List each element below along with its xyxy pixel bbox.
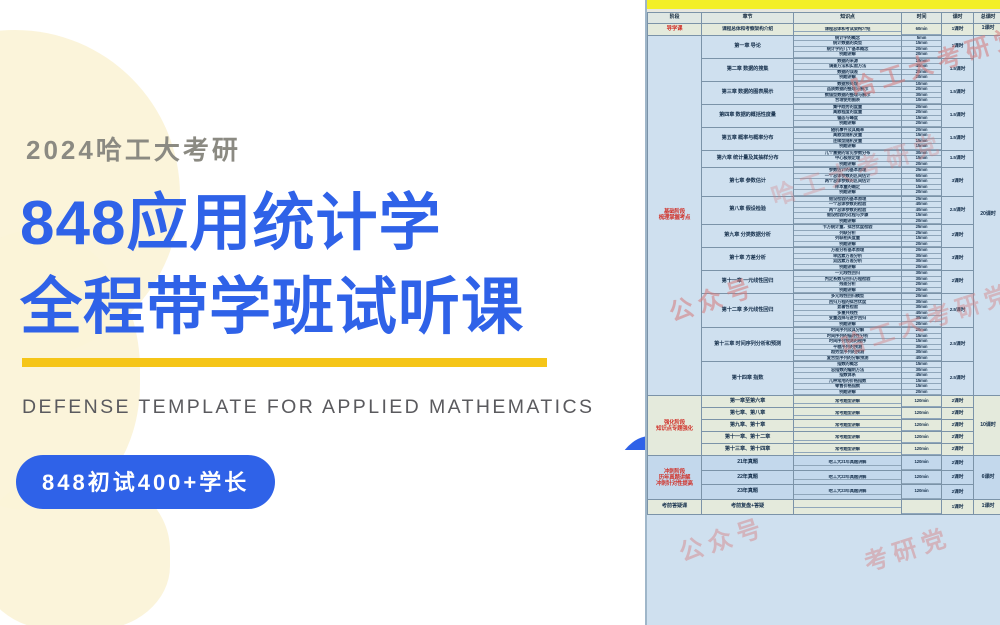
cell-hours: 2课时 bbox=[942, 470, 974, 485]
cell-hours: 2课时 bbox=[942, 485, 974, 500]
table-row: 冲刺阶段历年真题讲解冲刺针对性提高21年真题哈工大21年真题讲解120min2课… bbox=[648, 456, 1000, 471]
cell-hours: 2课时 bbox=[942, 420, 974, 432]
cell-knowledge-points: 指数的概念总指数的编制方法指数体系几种常用的价格指数零售价格指数例题讲解 bbox=[794, 362, 902, 396]
cell-hours: 2.5课时 bbox=[942, 294, 974, 328]
cell-hours: 1.5课时 bbox=[942, 104, 974, 127]
cell-stage: 强化阶段知识点专题强化 bbox=[648, 396, 702, 456]
cell-times: 120min bbox=[902, 456, 942, 471]
table-header-row: 阶段 章节 知识点 时间 课时 总课时 bbox=[648, 13, 1000, 24]
knowledge-point-item: 例题讲解 bbox=[794, 75, 901, 81]
cell-total-hours: 10课时 bbox=[974, 396, 1000, 456]
promo-eyebrow: 2024哈工大考研 bbox=[26, 130, 241, 167]
cell-knowledge-points: 常考题型讲解 bbox=[794, 396, 902, 408]
knowledge-point-item: 例题讲解 bbox=[794, 121, 901, 127]
cell-knowledge-points: 课程总体和考试架构介绍 bbox=[794, 24, 902, 36]
cell-chapter: 第十三章、第十四章 bbox=[702, 444, 794, 456]
time-item: 120min bbox=[902, 396, 941, 407]
time-item: 120min bbox=[902, 432, 941, 443]
time-item: 10min bbox=[902, 98, 941, 104]
cell-knowledge-points: 数据预处理品质数据的整理与展示数值型数据的整理与展示合理使用图表 bbox=[794, 81, 902, 104]
cell-times: 20min15min15min30min30min40min bbox=[902, 328, 942, 362]
th-knowledge-point: 知识点 bbox=[794, 13, 902, 24]
knowledge-point-item: 例题讲解 bbox=[794, 287, 901, 293]
cell-knowledge-points bbox=[794, 499, 902, 515]
table-body: 导学课课程总体和考察架构介绍课程总体和考试架构介绍60min1课时1课时基础阶段… bbox=[648, 24, 1000, 515]
table-row: 强化阶段知识点专题强化第一章至第六章常考题型讲解120min2课时10课时 bbox=[648, 396, 1000, 408]
time-item: 60min bbox=[902, 24, 941, 34]
cell-chapter: 第二章 数据的搜集 bbox=[702, 58, 794, 81]
cell-chapter: 第十章 方差分析 bbox=[702, 248, 794, 271]
cell-chapter: 第四章 数据的概括性度量 bbox=[702, 104, 794, 127]
cell-hours: 1.5课时 bbox=[942, 81, 974, 104]
time-item: 20min bbox=[902, 218, 941, 224]
cell-times: 20min30min30min20min bbox=[902, 248, 942, 271]
cell-stage: 冲刺阶段历年真题讲解冲刺针对性提高 bbox=[648, 456, 702, 500]
cell-total-hours: 1课时 bbox=[974, 24, 1000, 36]
time-item: 40min bbox=[902, 355, 941, 361]
cell-chapter: 第十一章、第十二章 bbox=[702, 432, 794, 444]
cell-knowledge-points: 常考题型讲解 bbox=[794, 420, 902, 432]
table-row: 考前答疑课考前复盘+答疑1课时1课时 bbox=[648, 499, 1000, 515]
knowledge-point-item: 例题讲解 bbox=[794, 321, 901, 327]
th-hours: 课时 bbox=[942, 13, 974, 24]
time-item: 15min bbox=[902, 144, 941, 150]
instructor-credential-pill[interactable]: 848初试400+学长 bbox=[16, 455, 275, 509]
cell-hours: 3课时 bbox=[942, 248, 974, 271]
promo-panel: 2024哈工大考研 848应用统计学 全程带学班试听课 DEFENSE TEMP… bbox=[0, 0, 650, 625]
cell-hours: 2.5课时 bbox=[942, 328, 974, 362]
knowledge-point-item: 例题讲解 bbox=[794, 190, 901, 196]
knowledge-point-item: 例题讲解 bbox=[794, 218, 901, 224]
promo-headline-line2: 全程带学班试听课 bbox=[20, 277, 524, 339]
cell-times bbox=[902, 499, 942, 515]
cell-hours: 2课时 bbox=[942, 271, 974, 294]
cell-knowledge-points: 哈工大22年真题讲解 bbox=[794, 470, 902, 485]
time-item: 120min bbox=[902, 456, 941, 469]
knowledge-point-item: 例题讲解 bbox=[794, 241, 901, 247]
cell-hours: 2课时 bbox=[942, 396, 974, 408]
cell-times: 25min25min15min20min bbox=[902, 225, 942, 248]
cell-hours: 1课时 bbox=[942, 24, 974, 36]
cell-knowledge-points: 哈工大21年真题讲解 bbox=[794, 456, 902, 471]
cell-hours: 1.5课时 bbox=[942, 150, 974, 168]
knowledge-point-item: 例题讲解 bbox=[794, 161, 901, 167]
cell-knowledge-points: 常考题型讲解 bbox=[794, 432, 902, 444]
cell-times: 10min20min30min10min bbox=[902, 81, 942, 104]
th-total-hours: 总课时 bbox=[974, 13, 1000, 24]
cell-total-hours: 1课时 bbox=[974, 499, 1000, 515]
cell-chapter: 第九章、第十章 bbox=[702, 420, 794, 432]
cell-knowledge-points: 常考题型讲解 bbox=[794, 444, 902, 456]
cell-chapter: 第三章 数据的图表展示 bbox=[702, 81, 794, 104]
time-item: 20min bbox=[902, 321, 941, 327]
watermark-text: 公众号 bbox=[674, 507, 770, 568]
time-item: 120min bbox=[902, 420, 941, 431]
cell-knowledge-points: 卡方统计量、拟合优度检验列联分析列联相关度量例题讲解 bbox=[794, 225, 902, 248]
cell-knowledge-points: 参数估计的基本原理一个总体参数的区间估计两个总体参数的区间估计样本量的确定例题讲… bbox=[794, 168, 902, 197]
cell-chapter: 第十四章 指数 bbox=[702, 362, 794, 396]
cell-times: 5min15min20min20min bbox=[902, 35, 942, 58]
yellow-top-strip bbox=[647, 0, 1000, 9]
cell-stage: 导学课 bbox=[648, 24, 702, 36]
time-item: 120min bbox=[902, 485, 941, 498]
cell-knowledge-points: 方差分析基本原理单因素方差分析双因素方差分析例题讲解 bbox=[794, 248, 902, 271]
cell-stage: 考前答疑课 bbox=[648, 499, 702, 515]
knowledge-point-item: 常考题型讲解 bbox=[794, 423, 901, 428]
time-item: 20min bbox=[902, 161, 941, 167]
knowledge-point-item: 合理使用图表 bbox=[794, 98, 901, 104]
course-schedule-table: 阶段 章节 知识点 时间 课时 总课时 导学课课程总体和考察架构介绍课程总体和考… bbox=[647, 12, 1000, 515]
cell-knowledge-points: 几个重要的常见参数分布中心极限定理例题讲解 bbox=[794, 150, 902, 168]
knowledge-point-item: 常考题型讲解 bbox=[794, 411, 901, 416]
cell-chapter: 第七章、第八章 bbox=[702, 408, 794, 420]
cell-times: 120min bbox=[902, 470, 942, 485]
knowledge-point-item: 例题讲解 bbox=[794, 264, 901, 270]
th-chapter: 章节 bbox=[702, 13, 794, 24]
cell-chapter: 第五章 概率与概率分布 bbox=[702, 127, 794, 150]
cell-hours: 2.5课时 bbox=[942, 196, 974, 225]
th-time: 时间 bbox=[902, 13, 942, 24]
time-item: 20min bbox=[902, 121, 941, 127]
cell-total-hours: 20课时 bbox=[974, 35, 1000, 396]
promo-headline-line1: 848应用统计学 bbox=[20, 193, 441, 255]
knowledge-point-item bbox=[794, 507, 901, 508]
cell-times: 30min30min20min20min bbox=[902, 271, 942, 294]
cell-times: 60min bbox=[902, 24, 942, 36]
time-item bbox=[902, 500, 941, 514]
blue-curve-decoration bbox=[590, 200, 650, 450]
time-item: 20min bbox=[902, 75, 941, 81]
cell-hours: 3课时 bbox=[942, 168, 974, 197]
cell-hours: 1课时 bbox=[942, 35, 974, 58]
cell-knowledge-points: 时间序列及其分解时间序列的描述性分析时间序列预测的程序平稳序列的预测趋势型序列的… bbox=[794, 328, 902, 362]
cell-knowledge-points: 统计学的概念统计数据的类型统计学的几个基本概念例题讲解 bbox=[794, 35, 902, 58]
cell-stage: 基础阶段梳理掌握考点 bbox=[648, 35, 702, 396]
cell-chapter: 课程总体和考察架构介绍 bbox=[702, 24, 794, 36]
promo-subtitle-english: DEFENSE TEMPLATE FOR APPLIED MATHEMATICS bbox=[22, 396, 594, 419]
cell-hours: 1.5课时 bbox=[942, 58, 974, 81]
cell-times: 25min40min40min15min20min bbox=[902, 196, 942, 225]
cell-knowledge-points: 假设检验的基本原理一个总体参数的检验两个总体参数的检验假设检验的过程与步骤例题讲… bbox=[794, 196, 902, 225]
knowledge-point-item: 哈工大22年真题讲解 bbox=[794, 475, 901, 480]
cell-chapter: 第六章 统计量及其抽样分布 bbox=[702, 150, 794, 168]
cell-times: 120min bbox=[902, 444, 942, 456]
cell-chapter: 21年真题 bbox=[702, 456, 794, 471]
cell-knowledge-points: 哈工大23年真题讲解 bbox=[794, 485, 902, 500]
cell-hours: 1课时 bbox=[942, 499, 974, 515]
cell-hours: 2课时 bbox=[942, 456, 974, 471]
cell-knowledge-points: 集中趋势的度量离散程度的度量偏态与峰度例题讲解 bbox=[794, 104, 902, 127]
knowledge-point-item: 例题讲解 bbox=[794, 52, 901, 58]
cell-hours: 2课时 bbox=[942, 408, 974, 420]
cell-times: 120min bbox=[902, 432, 942, 444]
cell-knowledge-points: 一元线性回归判定系数与回归方程检验残差分析例题讲解 bbox=[794, 271, 902, 294]
cell-chapter: 考前复盘+答疑 bbox=[702, 499, 794, 515]
cell-chapter: 第八章 假设检验 bbox=[702, 196, 794, 225]
cell-knowledge-points: 随机事件及其概率离散型随机变量连续型随机变量例题讲解 bbox=[794, 127, 902, 150]
cell-times: 120min bbox=[902, 408, 942, 420]
cell-hours: 1.5课时 bbox=[942, 127, 974, 150]
cell-hours: 2课时 bbox=[942, 225, 974, 248]
time-item: 120min bbox=[902, 408, 941, 419]
table-row: 导学课课程总体和考察架构介绍课程总体和考试架构介绍60min1课时1课时 bbox=[648, 24, 1000, 36]
cell-times: 10min40min20min20min bbox=[902, 58, 942, 81]
time-item: 20min bbox=[902, 287, 941, 293]
cell-chapter: 第九章 分类数据分析 bbox=[702, 225, 794, 248]
course-schedule-panel: 阶段 章节 知识点 时间 课时 总课时 导学课课程总体和考察架构介绍课程总体和考… bbox=[645, 0, 1000, 625]
cell-times: 20min20min15min20min bbox=[902, 104, 942, 127]
time-item: 20min bbox=[902, 241, 941, 247]
cell-hours: 2课时 bbox=[942, 432, 974, 444]
knowledge-point-item: 哈工大23年真题讲解 bbox=[794, 489, 901, 494]
cell-times: 15min30min45min15min15min20min bbox=[902, 362, 942, 396]
cell-chapter: 23年真题 bbox=[702, 485, 794, 500]
cell-times: 120min bbox=[902, 396, 942, 408]
knowledge-point-item: 常考题型讲解 bbox=[794, 399, 901, 404]
cell-times: 20min30min30min40min30min20min bbox=[902, 294, 942, 328]
slide-canvas: 2024哈工大考研 848应用统计学 全程带学班试听课 DEFENSE TEMP… bbox=[0, 0, 1000, 625]
knowledge-point-item: 常考题型讲解 bbox=[794, 447, 901, 452]
cell-chapter: 第十二章 多元线性回归 bbox=[702, 294, 794, 328]
cell-times: 25min60min50min15min20min bbox=[902, 168, 942, 197]
time-item: 120min bbox=[902, 471, 941, 484]
knowledge-point-item: 例题讲解 bbox=[794, 144, 901, 150]
time-item: 20min bbox=[902, 264, 941, 270]
cell-total-hours: 6课时 bbox=[974, 456, 1000, 500]
table-row: 基础阶段梳理掌握考点第一章 导论统计学的概念统计数据的类型统计学的几个基本概念例… bbox=[648, 35, 1000, 58]
th-stage: 阶段 bbox=[648, 13, 702, 24]
cell-chapter: 第一章至第六章 bbox=[702, 396, 794, 408]
cell-chapter: 第一章 导论 bbox=[702, 35, 794, 58]
time-item: 20min bbox=[902, 190, 941, 196]
cell-hours: 2课时 bbox=[942, 444, 974, 456]
cell-chapter: 第十三章 时间序列分析和预测 bbox=[702, 328, 794, 362]
knowledge-point-item: 课程总体和考试架构介绍 bbox=[794, 27, 901, 32]
cell-knowledge-points: 常考题型讲解 bbox=[794, 408, 902, 420]
yellow-underline-bar bbox=[22, 358, 547, 367]
cell-hours: 2.5课时 bbox=[942, 362, 974, 396]
cell-chapter: 22年真题 bbox=[702, 470, 794, 485]
cell-knowledge-points: 多元线性回归模型回归方程的拟合优度显著性检验多重共线性变量选择与逐步回归例题讲解 bbox=[794, 294, 902, 328]
cell-times: 20min15min15min15min bbox=[902, 127, 942, 150]
cell-times: 120min bbox=[902, 420, 942, 432]
watermark-text: 考研党 bbox=[859, 517, 955, 578]
time-item: 20min bbox=[902, 389, 941, 395]
knowledge-point-item: 复合型序列的分解预测 bbox=[794, 355, 901, 361]
cell-knowledge-points: 数据的来源调查方法和实验方法数据的误差例题讲解 bbox=[794, 58, 902, 81]
knowledge-point-item: 常考题型讲解 bbox=[794, 435, 901, 440]
cell-chapter: 第十一章 一元线性回归 bbox=[702, 271, 794, 294]
time-item: 120min bbox=[902, 444, 941, 455]
cell-times: 120min bbox=[902, 485, 942, 500]
knowledge-point-item: 例题讲解 bbox=[794, 389, 901, 395]
knowledge-point-item: 哈工大21年真题讲解 bbox=[794, 460, 901, 465]
cell-chapter: 第七章 参数估计 bbox=[702, 168, 794, 197]
time-item: 20min bbox=[902, 52, 941, 58]
cell-times: 30min15min20min bbox=[902, 150, 942, 168]
